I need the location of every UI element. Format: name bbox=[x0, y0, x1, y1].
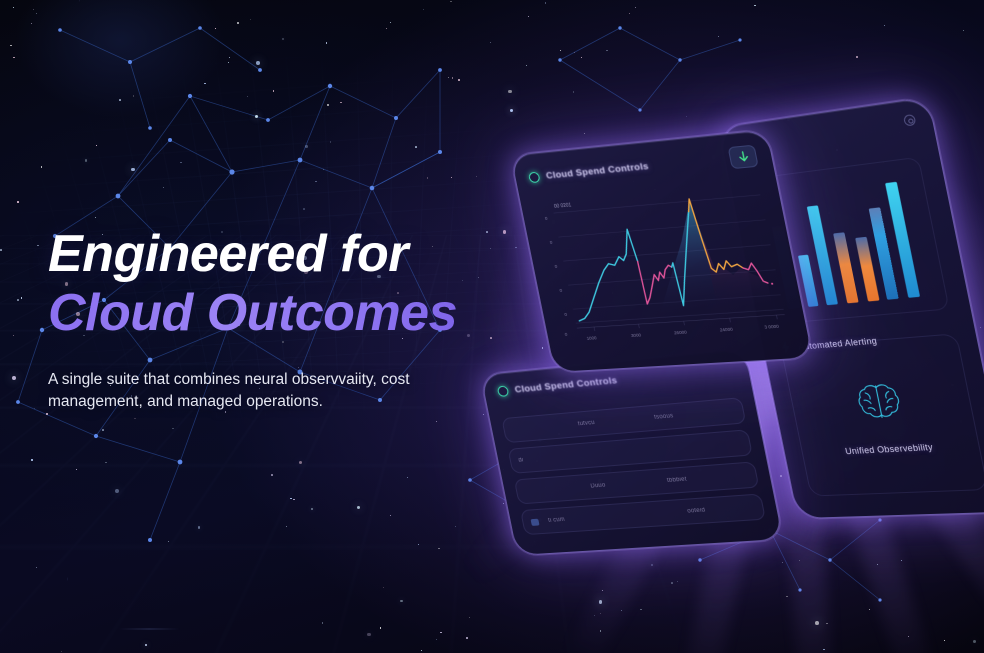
table-cell: tbbbiet bbox=[667, 473, 737, 484]
svg-text:0: 0 bbox=[554, 264, 558, 269]
row-badge-icon bbox=[530, 518, 539, 525]
table-cell bbox=[584, 450, 650, 455]
svg-text:3000: 3000 bbox=[630, 332, 641, 338]
download-button[interactable] bbox=[728, 145, 759, 170]
table-cell: ooteid bbox=[687, 504, 755, 514]
download-arrow-icon bbox=[736, 150, 750, 164]
table-cell bbox=[512, 425, 568, 430]
svg-text:24000: 24000 bbox=[719, 326, 733, 332]
card-title: Cloud Spend Controls bbox=[514, 375, 618, 395]
svg-text:0: 0 bbox=[544, 216, 548, 221]
observability-label: Unified Observebility bbox=[844, 442, 933, 456]
card-title: Cloud Spend Controls bbox=[545, 161, 650, 181]
ring-status-icon bbox=[528, 171, 541, 183]
cloud-spend-controls-table-card[interactable]: Cloud Spend Controls futvcu fsoous di Du… bbox=[480, 349, 784, 556]
table-cell: fsoous bbox=[654, 409, 724, 421]
brain-icon bbox=[851, 378, 907, 424]
table-cell bbox=[525, 487, 581, 491]
table-cell: ti cum bbox=[548, 514, 604, 523]
table-cell: futvcu bbox=[577, 416, 645, 428]
table-cell: Duuo bbox=[590, 479, 658, 490]
table-cell: di bbox=[518, 453, 575, 463]
svg-text:00 0201: 00 0201 bbox=[554, 202, 573, 210]
svg-text:26000: 26000 bbox=[673, 329, 687, 335]
dashboard-card-group: Automated Alerting bbox=[0, 0, 984, 653]
unified-observability-panel: Unified Observebility bbox=[780, 333, 984, 496]
svg-text:0: 0 bbox=[549, 240, 553, 245]
svg-text:0: 0 bbox=[559, 288, 563, 293]
svg-text:0: 0 bbox=[564, 312, 568, 317]
table-cell bbox=[613, 512, 678, 516]
svg-text:1000: 1000 bbox=[586, 335, 597, 341]
svg-text:3 0000: 3 0000 bbox=[764, 323, 780, 329]
svg-text:0: 0 bbox=[564, 332, 568, 337]
cloud-spend-controls-chart-card[interactable]: Cloud Spend Controls bbox=[510, 129, 814, 373]
ring-status-icon bbox=[497, 385, 510, 397]
table-cell bbox=[661, 444, 729, 449]
line-chart: 00 0201 0 0 0 0 0 0 bbox=[531, 175, 794, 346]
gear-icon[interactable] bbox=[903, 114, 916, 127]
hero-banner: Engineered for Cloud Outcomes A single s… bbox=[0, 0, 984, 653]
